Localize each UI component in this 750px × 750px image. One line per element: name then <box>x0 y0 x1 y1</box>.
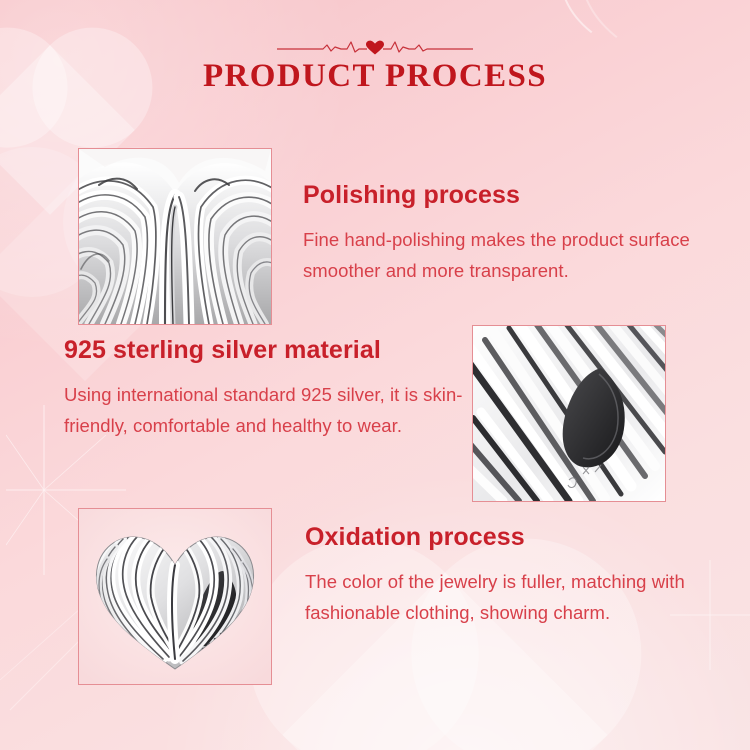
section-oxidation-body: The color of the jewelry is fuller, matc… <box>305 566 695 628</box>
product-photo-polishing-image <box>79 149 271 324</box>
page-title: PRODUCT PROCESS <box>0 58 750 95</box>
section-material-text: 925 sterling silver material Using inter… <box>64 337 464 441</box>
background-swoosh-top-right <box>560 0 750 64</box>
product-photo-polishing[interactable] <box>78 148 272 325</box>
product-photo-oxidation[interactable] <box>78 508 272 685</box>
section-oxidation-heading: Oxidation process <box>305 524 695 552</box>
section-polishing-text: Polishing process Fine hand-polishing ma… <box>303 182 733 286</box>
section-material-body: Using international standard 925 silver,… <box>64 379 464 441</box>
product-photo-material-image <box>473 326 665 501</box>
heartbeat-ecg-icon <box>275 36 475 58</box>
section-polishing-body: Fine hand-polishing makes the product su… <box>303 224 733 286</box>
section-oxidation-text: Oxidation process The color of the jewel… <box>305 524 695 628</box>
section-polishing-heading: Polishing process <box>303 182 733 210</box>
product-photo-material[interactable] <box>472 325 666 502</box>
product-process-infographic: PRODUCT PROCESS <box>0 0 750 750</box>
section-material-heading: 925 sterling silver material <box>64 337 464 365</box>
product-photo-oxidation-image <box>79 509 271 684</box>
